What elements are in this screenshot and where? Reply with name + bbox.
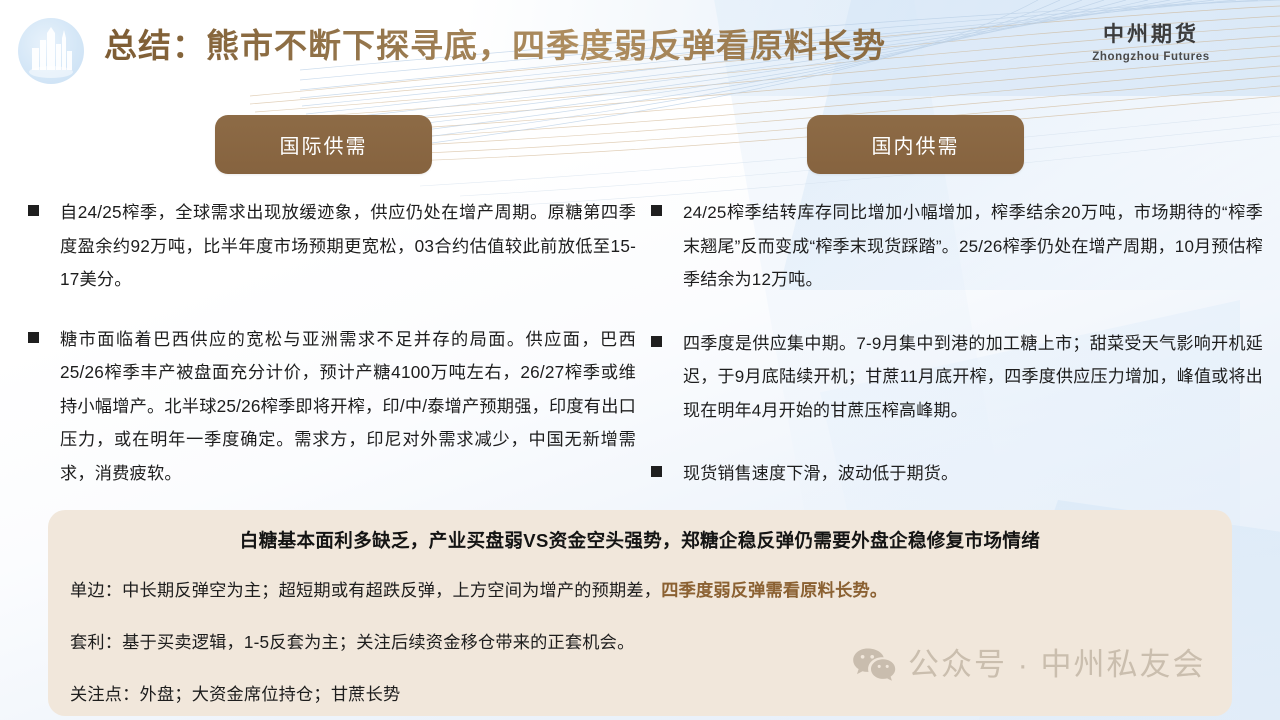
international-supply-demand-column: 自24/25榨季，全球需求出现放缓迹象，供应仍处在增产周期。原糖第四季度盈余约9… xyxy=(28,196,636,516)
section-badge-international: 国际供需 xyxy=(215,115,432,174)
list-item-text: 糖市面临着巴西供应的宽松与亚洲需求不足并存的局面。供应面，巴西25/26榨季丰产… xyxy=(60,323,636,491)
list-item: 现货销售速度下滑，波动低于期货。 xyxy=(651,457,1263,491)
list-item: 自24/25榨季，全球需求出现放缓迹象，供应仍处在增产周期。原糖第四季度盈余约9… xyxy=(28,196,636,297)
conclusion-panel: 白糖基本面利多缺乏，产业买盘弱VS资金空头强势，郑糖企稳反弹仍需要外盘企稳修复市… xyxy=(48,510,1232,716)
square-bullet-icon xyxy=(651,336,662,347)
section-badge-domestic: 国内供需 xyxy=(807,115,1024,174)
conclusion-line-unilateral-emphasis: 四季度弱反弹需看原料长势。 xyxy=(661,580,887,600)
list-item: 糖市面临着巴西供应的宽松与亚洲需求不足并存的局面。供应面，巴西25/26榨季丰产… xyxy=(28,323,636,491)
list-item-text: 现货销售速度下滑，波动低于期货。 xyxy=(683,457,1263,491)
brand-name-en: Zhongzhou Futures xyxy=(1056,49,1246,65)
conclusion-line-unilateral: 单边：中长期反弹空为主；超短期或有超跌反弹，上方空间为增产的预期差，四季度弱反弹… xyxy=(70,576,1232,604)
presentation-slide: 总结：熊市不断下探寻底，四季度弱反弹看原料长势 中州期货 Zhongzhou F… xyxy=(0,0,1280,720)
conclusion-heading: 白糖基本面利多缺乏，产业买盘弱VS资金空头强势，郑糖企稳反弹仍需要外盘企稳修复市… xyxy=(72,528,1208,554)
square-bullet-icon xyxy=(28,205,39,216)
brand-name-cn: 中州期货 xyxy=(1056,22,1246,48)
conclusion-line-arbitrage: 套利：基于买卖逻辑，1-5反套为主；关注后续资金移仓带来的正套机会。 xyxy=(70,628,1232,656)
square-bullet-icon xyxy=(651,205,662,216)
square-bullet-icon xyxy=(651,466,662,477)
square-bullet-icon xyxy=(28,332,39,343)
page-title: 总结：熊市不断下探寻底，四季度弱反弹看原料长势 xyxy=(104,23,886,69)
list-item: 四季度是供应集中期。7-9月集中到港的加工糖上市；甜菜受天气影响开机延迟，于9月… xyxy=(651,327,1263,428)
list-item-text: 自24/25榨季，全球需求出现放缓迹象，供应仍处在增产周期。原糖第四季度盈余约9… xyxy=(60,196,636,297)
section-badge-international-label: 国际供需 xyxy=(280,130,368,159)
conclusion-line-unilateral-prefix: 单边：中长期反弹空为主；超短期或有超跌反弹，上方空间为增产的预期差， xyxy=(70,580,661,600)
list-item: 24/25榨季结转库存同比增加小幅增加，榨季结余20万吨，市场期待的“榨季末翘尾… xyxy=(651,196,1263,297)
section-badge-domestic-label: 国内供需 xyxy=(872,130,960,159)
city-skyline-circle-icon xyxy=(18,18,84,84)
list-item-text: 24/25榨季结转库存同比增加小幅增加，榨季结余20万吨，市场期待的“榨季末翘尾… xyxy=(683,196,1263,297)
domestic-supply-demand-column: 24/25榨季结转库存同比增加小幅增加，榨季结余20万吨，市场期待的“榨季末翘尾… xyxy=(651,196,1263,521)
list-item-text: 四季度是供应集中期。7-9月集中到港的加工糖上市；甜菜受天气影响开机延迟，于9月… xyxy=(683,327,1263,428)
brand-logo: 中州期货 Zhongzhou Futures xyxy=(1056,22,1246,65)
conclusion-line-focus: 关注点：外盘；大资金席位持仓；甘蔗长势 xyxy=(70,680,1232,708)
